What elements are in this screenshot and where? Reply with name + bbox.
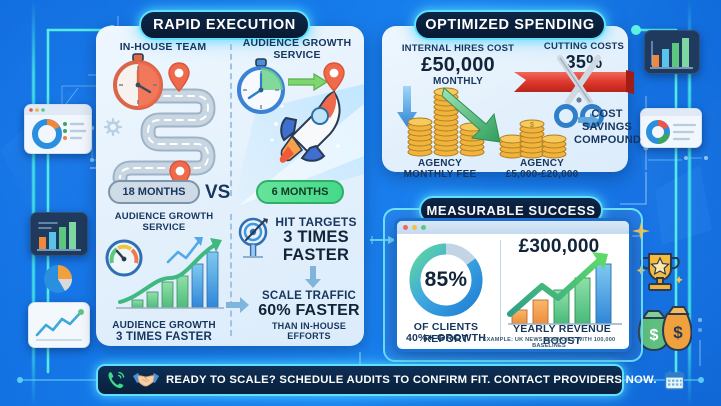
internal-hires-amount: £50,000 — [390, 54, 526, 76]
scale-traffic-line2: 60% FASTER — [250, 302, 368, 320]
donut-dashboard-icon — [640, 108, 702, 148]
agency-right-line2: £5,000-£20,000 — [486, 169, 598, 180]
revenue-bar-chart — [506, 252, 624, 330]
cost-savings-line2: SAVINGS — [580, 121, 634, 133]
growth-heading-line2: SERVICE — [106, 223, 222, 234]
window-maximize-dot[interactable] — [421, 225, 426, 230]
donut-dashboard-icon — [24, 104, 92, 154]
stopwatch-red-icon — [110, 52, 166, 112]
panel-divider-bottom — [230, 214, 232, 336]
donut-value: 85% — [404, 268, 488, 292]
speed-gauge-icon — [104, 238, 144, 278]
audience-growth-heading-line1: AUDIENCE GROWTH — [236, 38, 358, 50]
target-dart-icon — [236, 216, 270, 260]
scale-traffic-line3: THAN IN-HOUSE EFFORTS — [250, 321, 368, 341]
window-titlebar — [397, 221, 629, 234]
scale-traffic-line1: SCALE TRAFFIC — [252, 290, 366, 303]
vs-label: VS — [205, 182, 230, 204]
calendar-icon — [664, 370, 685, 391]
arrow-down-icon — [304, 266, 322, 288]
svg-text:$: $ — [530, 122, 534, 129]
rocket-icon — [268, 84, 352, 182]
window-close-dot[interactable] — [403, 225, 408, 230]
line-chart-icon — [28, 302, 90, 348]
gear-icon — [104, 118, 122, 136]
sparkle-icon — [632, 222, 650, 240]
svg-text:$: $ — [673, 323, 683, 342]
trophy-icon — [636, 248, 684, 300]
success-panel-divider — [500, 240, 501, 338]
bar-chart-icon — [644, 30, 700, 74]
map-pin-start-icon — [167, 62, 191, 92]
phone-ringing-icon — [106, 370, 126, 390]
svg-text:$: $ — [650, 327, 659, 344]
growth-caption-line1: AUDIENCE GROWTH — [102, 320, 226, 331]
window-minimize-dot[interactable] — [412, 225, 417, 230]
success-footnote: EXAMPLE: UK NEWS AGENCIES WITH 100,000 B… — [470, 337, 628, 350]
hit-targets-line2: 3 TIMES — [266, 228, 366, 246]
bar-chart-icon — [30, 212, 88, 256]
cost-savings-line3: COMPOUND — [574, 134, 640, 146]
in-house-duration-pill: 18 MONTHS — [108, 180, 200, 204]
agency-right-line1: AGENCY — [494, 158, 590, 169]
handshake-icon — [133, 370, 159, 390]
infographic-canvas: $ $ RAPID EXECUTION IN-HOUSE TEAM AUDIEN… — [0, 0, 721, 406]
rapid-execution-badge: RAPID EXECUTION — [139, 10, 310, 40]
cost-savings-line1: COST — [580, 108, 634, 120]
agency-left-line1: AGENCY — [392, 158, 488, 169]
arrow-right-small-icon — [226, 296, 250, 314]
growth-caption-line2: 3 TIMES FASTER — [102, 331, 226, 344]
cta-banner[interactable]: READY TO SCALE? SCHEDULE AUDITS TO CONFI… — [96, 364, 624, 396]
hit-targets-line3: FASTER — [266, 246, 366, 264]
agency-left-line2: MONTHLY FEE — [388, 169, 492, 180]
optimized-spending-badge: OPTIMIZED SPENDING — [414, 10, 606, 40]
cta-text: READY TO SCALE? SCHEDULE AUDITS TO CONFI… — [166, 374, 657, 386]
service-duration-pill: 6 MONTHS — [256, 180, 344, 204]
pie-chart-icon — [41, 262, 75, 296]
